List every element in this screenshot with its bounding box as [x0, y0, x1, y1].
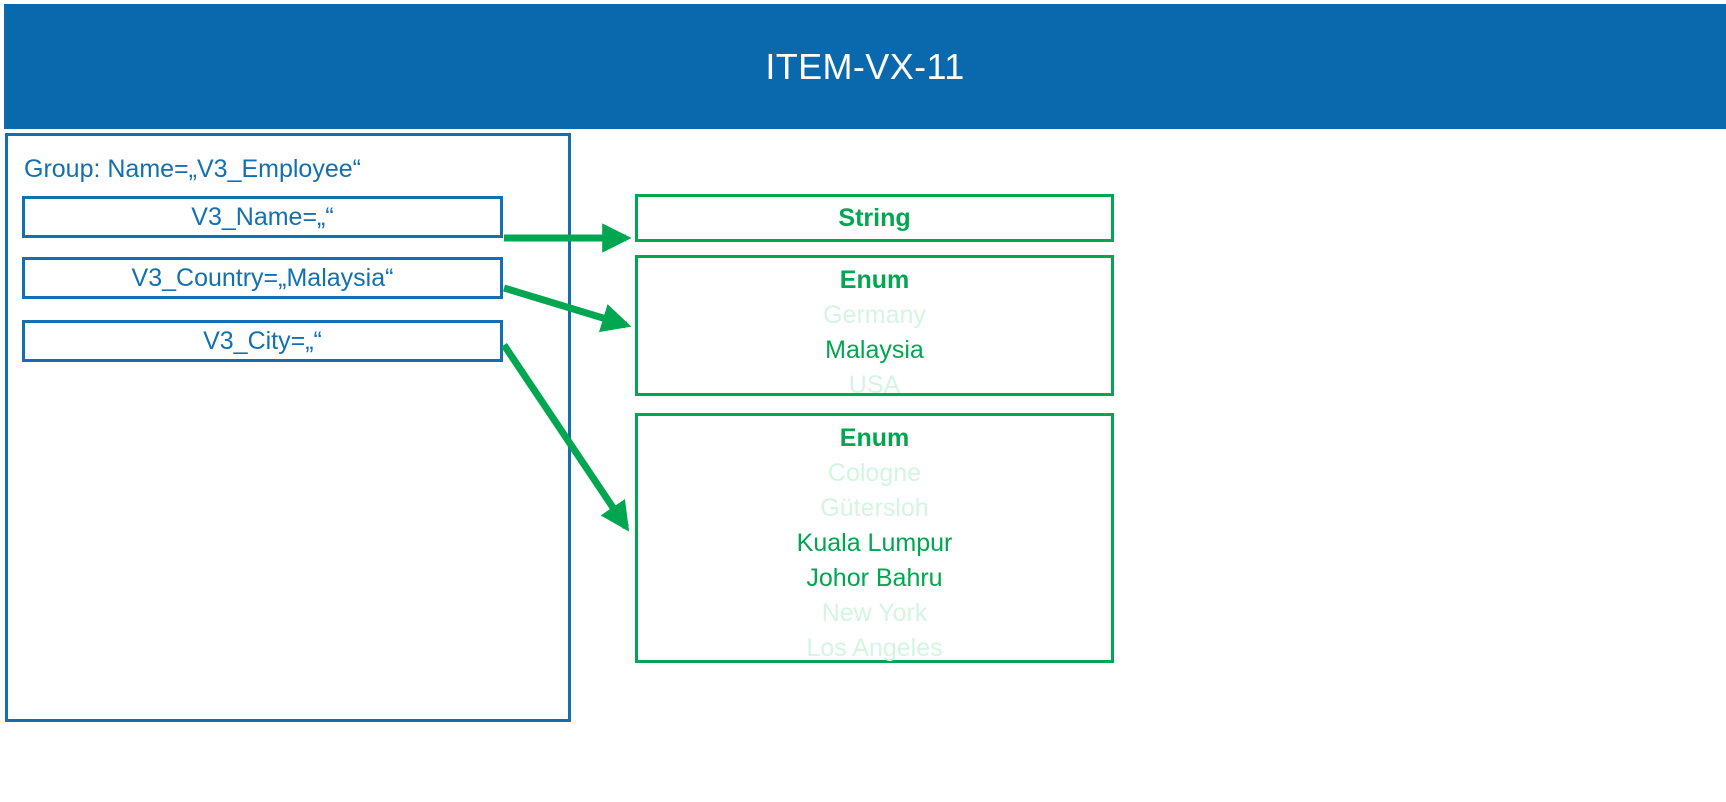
field-box-v3-city[interactable]: V3_City=„“ — [22, 320, 503, 362]
enum-option-germany[interactable]: Germany — [823, 298, 926, 333]
type-box-string[interactable]: String — [635, 194, 1114, 242]
field-label: V3_Country=„Malaysia“ — [132, 264, 394, 293]
header-banner: ITEM-VX-11 — [4, 4, 1726, 129]
field-label: V3_City=„“ — [203, 327, 322, 356]
type-title: String — [838, 201, 910, 236]
enum-option-kuala-lumpur[interactable]: Kuala Lumpur — [797, 526, 953, 561]
group-label: Group: Name=„V3_Employee“ — [24, 155, 361, 184]
type-box-enum-city[interactable]: Enum Cologne Gütersloh Kuala Lumpur Joho… — [635, 413, 1114, 663]
type-title: Enum — [840, 263, 909, 298]
field-box-v3-name[interactable]: V3_Name=„“ — [22, 196, 503, 238]
enum-option-los-angeles[interactable]: Los Angeles — [806, 631, 942, 666]
field-label: V3_Name=„“ — [191, 203, 333, 232]
enum-option-johor-bahru[interactable]: Johor Bahru — [806, 561, 942, 596]
enum-option-cologne[interactable]: Cologne — [828, 456, 921, 491]
enum-option-usa[interactable]: USA — [849, 368, 900, 403]
type-title: Enum — [840, 421, 909, 456]
field-box-v3-country[interactable]: V3_Country=„Malaysia“ — [22, 257, 503, 299]
page-title: ITEM-VX-11 — [765, 49, 964, 85]
type-box-enum-country[interactable]: Enum Germany Malaysia USA — [635, 255, 1114, 396]
enum-option-new-york[interactable]: New York — [822, 596, 928, 631]
enum-option-malaysia[interactable]: Malaysia — [825, 333, 924, 368]
diagram-canvas: ITEM-VX-11 Group: Name=„V3_Employee“ V3_… — [0, 0, 1726, 802]
enum-option-guetersloh[interactable]: Gütersloh — [820, 491, 928, 526]
